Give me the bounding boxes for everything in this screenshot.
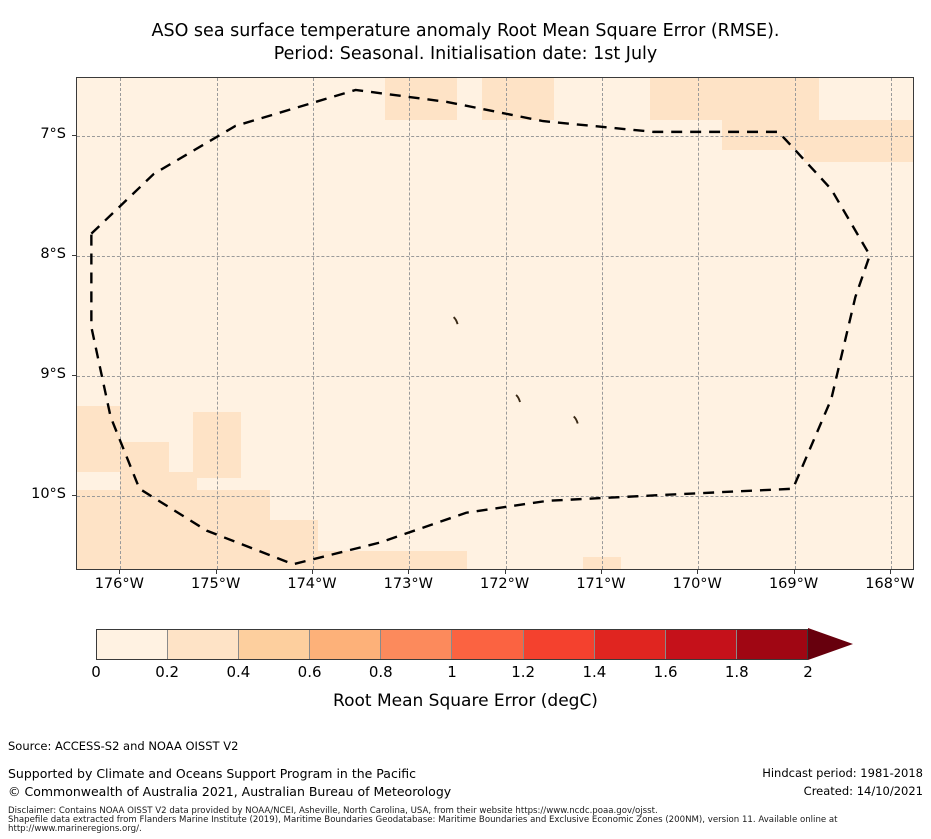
title-line-2: Period: Seasonal. Initialisation date: 1… bbox=[0, 43, 931, 66]
x-tick-label: 175°W bbox=[176, 576, 256, 592]
x-tick-mark bbox=[312, 570, 313, 574]
colorbar-tick-label: 2 bbox=[778, 663, 838, 681]
colorbar-segment bbox=[97, 630, 168, 659]
y-tick-label: 7°S bbox=[0, 126, 66, 142]
colorbar-segment bbox=[310, 630, 381, 659]
x-tick-mark bbox=[697, 570, 698, 574]
x-tick-mark bbox=[890, 570, 891, 574]
colorbar-tick-label: 0.8 bbox=[351, 663, 411, 681]
colorbar bbox=[96, 629, 808, 660]
colorbar-tick-label: 0 bbox=[66, 663, 126, 681]
x-tick-label: 176°W bbox=[79, 576, 159, 592]
x-tick-mark bbox=[601, 570, 602, 574]
colorbar-segments bbox=[96, 629, 808, 660]
colorbar-tick-label: 1.4 bbox=[564, 663, 624, 681]
colorbar-segment bbox=[168, 630, 239, 659]
y-tick-mark bbox=[72, 255, 76, 256]
colorbar-tick-label: 1.6 bbox=[636, 663, 696, 681]
source-text: Source: ACCESS-S2 and NOAA OISST V2 bbox=[8, 739, 238, 753]
y-tick-label: 9°S bbox=[0, 366, 66, 382]
colorbar-segment bbox=[595, 630, 666, 659]
colorbar-segment bbox=[524, 630, 595, 659]
title-line-1: ASO sea surface temperature anomaly Root… bbox=[0, 20, 931, 43]
colorbar-tick-label: 1.8 bbox=[707, 663, 767, 681]
x-tick-mark bbox=[794, 570, 795, 574]
y-tick-label: 8°S bbox=[0, 246, 66, 262]
x-tick-label: 169°W bbox=[754, 576, 834, 592]
colorbar-tick-label: 1.2 bbox=[493, 663, 553, 681]
colorbar-segment bbox=[239, 630, 310, 659]
eez-dashed-polyline bbox=[91, 90, 869, 564]
y-tick-mark bbox=[72, 135, 76, 136]
colorbar-segment bbox=[666, 630, 737, 659]
x-tick-label: 173°W bbox=[368, 576, 448, 592]
x-tick-label: 168°W bbox=[850, 576, 930, 592]
colorbar-tick-label: 1 bbox=[422, 663, 482, 681]
x-tick-label: 171°W bbox=[561, 576, 641, 592]
colorbar-tick-label: 0.4 bbox=[208, 663, 268, 681]
x-tick-mark bbox=[119, 570, 120, 574]
x-tick-label: 172°W bbox=[465, 576, 545, 592]
x-tick-mark bbox=[505, 570, 506, 574]
colorbar-tick-label: 0.6 bbox=[280, 663, 340, 681]
copyright-text: © Commonwealth of Australia 2021, Austra… bbox=[8, 784, 451, 799]
hindcast-period-text: Hindcast period: 1981-2018 bbox=[762, 766, 923, 780]
colorbar-extend-arrow bbox=[808, 628, 853, 660]
x-tick-mark bbox=[216, 570, 217, 574]
created-date-text: Created: 14/10/2021 bbox=[804, 784, 923, 798]
colorbar-axis-label: Root Mean Square Error (degC) bbox=[0, 691, 931, 711]
support-text: Supported by Climate and Oceans Support … bbox=[8, 766, 416, 781]
x-tick-mark bbox=[408, 570, 409, 574]
y-tick-mark bbox=[72, 375, 76, 376]
eez-boundary-line bbox=[77, 78, 913, 569]
x-tick-label: 170°W bbox=[657, 576, 737, 592]
y-tick-mark bbox=[72, 495, 76, 496]
disclaimer-line-3: http://www.marineregions.org/. bbox=[8, 824, 142, 834]
colorbar-segment bbox=[737, 630, 807, 659]
y-tick-label: 10°S bbox=[0, 486, 66, 502]
chart-title: ASO sea surface temperature anomaly Root… bbox=[0, 20, 931, 66]
x-tick-label: 174°W bbox=[272, 576, 352, 592]
colorbar-segment bbox=[381, 630, 452, 659]
colorbar-tick-label: 0.2 bbox=[137, 663, 197, 681]
colorbar-segment bbox=[452, 630, 523, 659]
map-plot-area bbox=[76, 77, 914, 570]
